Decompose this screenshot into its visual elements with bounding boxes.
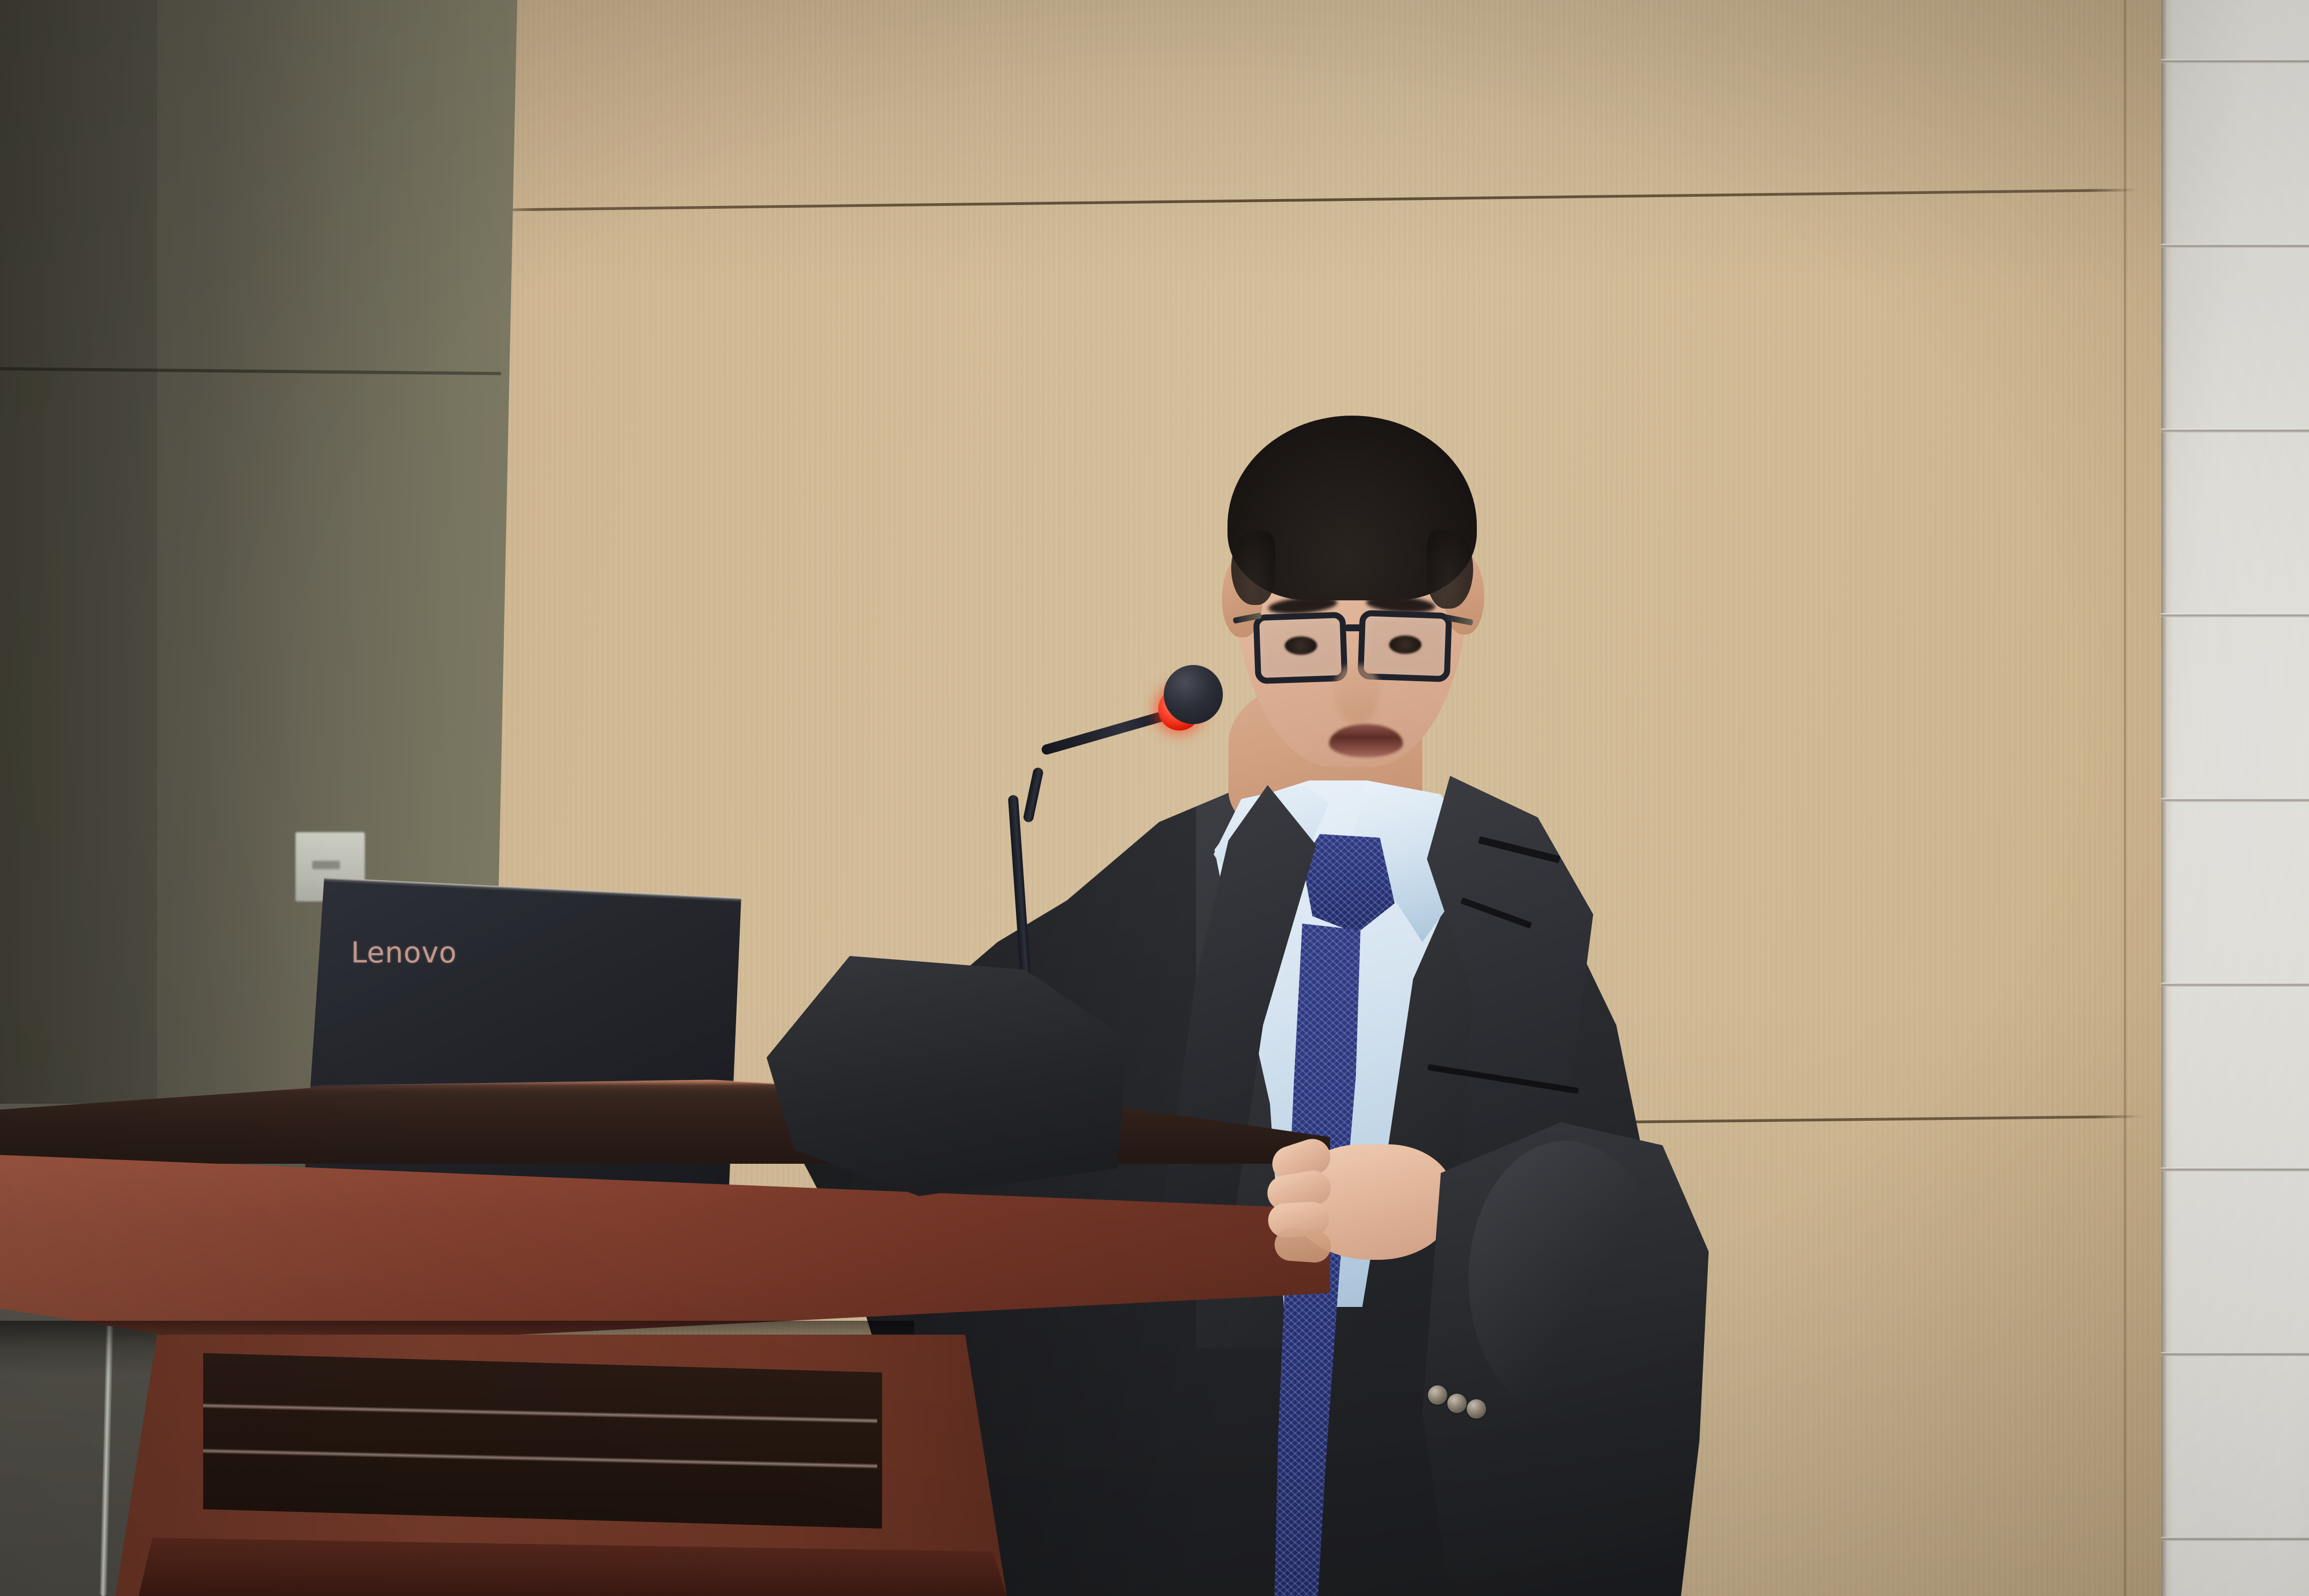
- slat-divider: [2161, 798, 2309, 802]
- laptop-brand-label: Lenovo: [351, 936, 457, 969]
- microphone-windscreen: [1164, 665, 1223, 724]
- speaker-nose: [1335, 665, 1379, 724]
- slat-divider: [2161, 1352, 2309, 1356]
- sleeve-cuff-button-2: [1447, 1394, 1467, 1413]
- speaker-right-hand: [1261, 1130, 1464, 1278]
- slat-divider: [2161, 613, 2309, 617]
- slat-divider: [2161, 59, 2309, 63]
- slat-divider: [2161, 429, 2309, 433]
- glasses-bridge: [1345, 624, 1363, 631]
- slat-divider: [2161, 244, 2309, 248]
- dark-side-wall-shadow: [0, 0, 157, 1106]
- podium-recess-panel: [203, 1353, 882, 1529]
- speaker-eye-left: [1285, 636, 1317, 655]
- speaker-hair-sideburn-left: [1231, 531, 1275, 605]
- white-slat-wall: [2161, 0, 2309, 1596]
- slat-divider: [2161, 1167, 2309, 1172]
- hand-finger-4: [1274, 1227, 1332, 1263]
- slat-divider: [2161, 1537, 2309, 1541]
- wood-wall-vertical-joint: [2123, 0, 2127, 1596]
- wall-plate-slot: [312, 861, 340, 869]
- speaker-hair-sideburn-right: [1427, 530, 1473, 609]
- slat-divider: [2161, 983, 2309, 987]
- speaker-eye-right: [1389, 635, 1421, 654]
- sleeve-cuff-button-3: [1467, 1399, 1486, 1419]
- sleeve-cuff-button-1: [1428, 1385, 1447, 1405]
- photograph-scene: Lenovo: [0, 0, 2309, 1596]
- speaker-head: [1210, 416, 1496, 767]
- right-sleeve-highlight: [1469, 1141, 1662, 1418]
